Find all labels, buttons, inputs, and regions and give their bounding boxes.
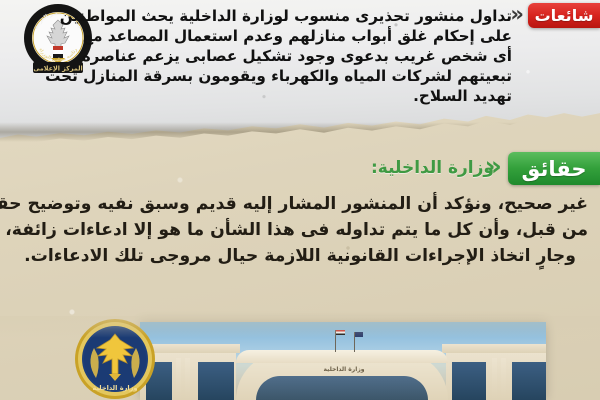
rumor-chevron-icon: « — [510, 4, 524, 25]
fact-source-label: وزارة الداخلية: — [371, 158, 494, 178]
rumor-text: تداول منشور تحذيرى منسوب لوزارة الداخلية… — [108, 6, 512, 106]
building-sign: وزارة الداخلية — [290, 366, 398, 375]
fact-line: وجارٍ اتخاذ الإجراءات القانونية اللازمة … — [12, 244, 588, 270]
fact-line: من قبل، وأن كل ما يتم تداوله فى هذا الشأ… — [12, 218, 588, 244]
fact-text: غير صحيح، ونؤكد أن المنشور المشار إليه ق… — [12, 192, 588, 269]
rumor-line: تبعيتهم لشركات المياه والكهرباء ويقومون … — [108, 66, 512, 86]
fact-line: غير صحيح، ونؤكد أن المنشور المشار إليه ق… — [12, 192, 588, 218]
rumor-line: تداول منشور تحذيرى منسوب لوزارة الداخلية… — [108, 6, 512, 26]
rumor-badge: شائعات — [528, 3, 600, 28]
rumor-line: أى شخص غريب بدعوى وجود تشكيل عصابى يزعم … — [108, 46, 512, 66]
moi-emblem: وزارة الداخلية — [74, 318, 156, 400]
rumor-line: على إحكام غلق أبواب منازلهم وعدم استعمال… — [108, 26, 512, 46]
infographic-card: جمهورية مصر العربية رئاسة مجلس الوزراء ا… — [0, 0, 600, 400]
rumor-line: تهديد السلاح. — [108, 86, 512, 106]
moi-caption: وزارة الداخلية — [92, 384, 137, 392]
fact-badge: حقائق — [508, 152, 600, 185]
ministry-of-interior-building-photo: وزارة الداخلية — [140, 322, 546, 400]
